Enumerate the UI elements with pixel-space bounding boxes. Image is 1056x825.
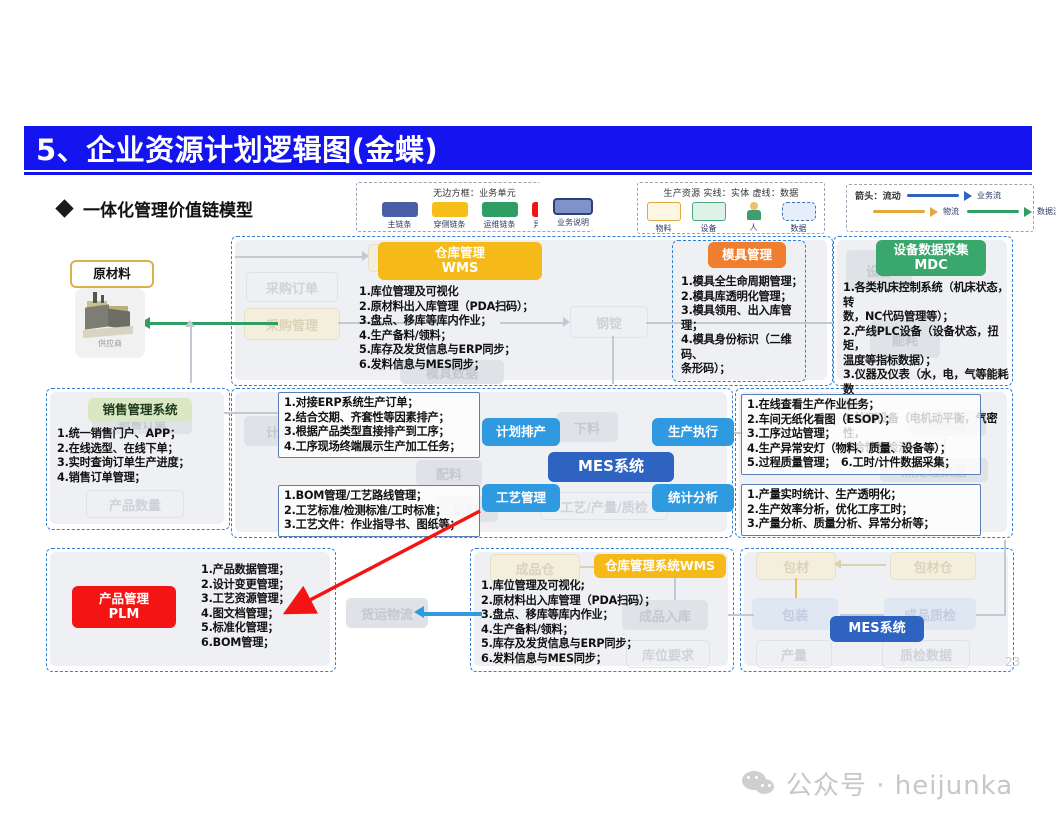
line-pack-left bbox=[728, 614, 754, 616]
plan-item-3: 3.根据产品类型直接排产到工序； bbox=[284, 425, 474, 440]
legend-item-data: 数据 bbox=[779, 202, 818, 234]
stat-item-2: 2.生产效率分析，优化工序工时； bbox=[747, 503, 975, 518]
mdc-item-3: 2.产线PLC设备（设备状态，扭矩， bbox=[843, 325, 1015, 354]
line-packwh-to-packmat bbox=[838, 564, 886, 566]
exec-item-5: 5.过程质量管理； 6.工时/计件数据采集； bbox=[747, 456, 975, 471]
page-number: 23 bbox=[1005, 655, 1020, 669]
wms-top-item-2: 2.原材料出入库管理（PDA扫码）； bbox=[359, 300, 609, 315]
plan-item-4: 4.工序现场终端展示生产加工任务； bbox=[284, 440, 474, 455]
stat-item-1: 1.产量实时统计、生产透明化； bbox=[747, 488, 975, 503]
watermark: 公众号 · heijunka bbox=[742, 765, 1013, 802]
module-plan-prod[interactable]: 计划排产 bbox=[482, 418, 560, 446]
module-wms-bottom[interactable]: 仓库管理系统WMS bbox=[594, 554, 726, 578]
subtitle-text: 一体化管理价值链模型 bbox=[83, 196, 253, 221]
ghost-output: 产量 bbox=[756, 640, 832, 668]
wms-top-item-1: 1.库位管理及可视化 bbox=[359, 285, 609, 300]
subtitle-group: 一体化管理价值链模型 bbox=[58, 196, 253, 221]
plan-item-1: 1.对接ERP系统生产订单； bbox=[284, 396, 474, 411]
ghost-product-qty: 产品数量 bbox=[86, 490, 184, 518]
mold-item-4: 4.模具身份标识（二维码、 bbox=[681, 333, 807, 362]
legend-arrow-business: 业务流 bbox=[907, 190, 1001, 201]
module-mold[interactable]: 模具管理 bbox=[708, 242, 786, 268]
title-underline bbox=[24, 172, 1032, 175]
module-prod-exec-label: 生产执行 bbox=[668, 425, 718, 440]
ghost-pack-material: 包材 bbox=[756, 552, 836, 580]
data-swatch-icon bbox=[782, 202, 816, 221]
line-inspect-right bbox=[976, 614, 1006, 616]
module-plan-prod-label: 计划排产 bbox=[496, 425, 546, 440]
sales-item-4: 4.销售订单管理； bbox=[57, 471, 229, 486]
legend-item-person: 人 bbox=[734, 202, 773, 233]
module-wms-bottom-label: 仓库管理系统WMS bbox=[605, 559, 715, 574]
legend-arrows: 箭头：流动 业务流 物流 数据流 bbox=[846, 184, 1034, 232]
arrow-top-d-head bbox=[185, 320, 195, 327]
module-plm-line1: 产品管理 bbox=[99, 592, 149, 607]
textbox-wms-bottom: 1.库位管理及可视化; 2.原材料出入库管理（PDA扫码）； 3.盘点、移库等库… bbox=[476, 576, 716, 669]
module-sales[interactable]: 销售管理系统 bbox=[88, 398, 192, 422]
legend-resources: 生产资源 实线：实体 虚线：数据 物料 设备 人 数据 bbox=[637, 182, 825, 234]
equipment-label: 设备 bbox=[701, 223, 717, 234]
wms-bottom-item-2: 2.原材料出入库管理（PDA扫码）； bbox=[481, 594, 711, 609]
slide-title-bar: 5、企业资源计划逻辑图(金蝶) bbox=[24, 126, 1032, 170]
legend-item-side-chain: 穿侧链条 bbox=[429, 202, 471, 230]
textbox-wms-top: 1.库位管理及可视化 2.原材料出入库管理（PDA扫码）； 3.盘点、移库等库内… bbox=[354, 282, 614, 375]
arrow-top-a-head bbox=[362, 251, 369, 261]
module-mes-center[interactable]: MES系统 bbox=[548, 452, 674, 482]
ghost-packaging: 包装 bbox=[752, 598, 838, 630]
plm-item-6: 6.BOM管理； bbox=[201, 636, 341, 651]
module-process-mgmt[interactable]: 工艺管理 bbox=[482, 484, 560, 512]
module-stat-analysis[interactable]: 统计分析 bbox=[652, 484, 734, 512]
wms-top-item-5: 5.库存及发货信息与ERP同步； bbox=[359, 343, 609, 358]
module-process-mgmt-label: 工艺管理 bbox=[496, 491, 546, 506]
side-chain-swatch bbox=[432, 202, 468, 217]
stat-item-3: 3.产量分析、质量分析、异常分析等； bbox=[747, 517, 975, 532]
textbox-sales: 1.统一销售门户、APP； 2.在线选型、在线下单； 3.实时查询订单生产进度；… bbox=[52, 424, 234, 488]
line-finished-wh bbox=[580, 566, 594, 568]
slide-canvas: 5、企业资源计划逻辑图(金蝶) 一体化管理价值链模型 无边方框：业务单元 主链条… bbox=[0, 0, 1056, 825]
module-mdc-line1: 设备数据采集 bbox=[893, 243, 968, 258]
legend-item-material: 物料 bbox=[644, 202, 683, 234]
module-wms-top[interactable]: 仓库管理 WMS bbox=[378, 242, 542, 280]
line-packmat-down bbox=[795, 578, 797, 598]
node-raw-material[interactable]: 原材料 bbox=[70, 260, 154, 288]
ghost-purchase-order: 采购订单 bbox=[246, 272, 338, 302]
module-mold-line1: 模具管理 bbox=[722, 248, 772, 263]
mold-item-5: 条形码）； bbox=[681, 362, 807, 377]
textbox-stat: 1.产量实时统计、生产透明化； 2.生产效率分析，优化工序工时； 3.产量分析、… bbox=[741, 484, 981, 536]
equipment-swatch-icon bbox=[692, 202, 726, 221]
module-stat-analysis-label: 统计分析 bbox=[668, 491, 718, 506]
business-flow-label: 业务流 bbox=[977, 190, 1001, 201]
ghost-blanking: 下料 bbox=[556, 412, 618, 442]
legend-item-equipment: 设备 bbox=[689, 202, 728, 234]
ghost-inspect-data: 质检数据 bbox=[882, 640, 970, 668]
business-note-swatch bbox=[553, 198, 593, 215]
module-mes-center-label: MES系统 bbox=[578, 458, 644, 476]
module-prod-exec[interactable]: 生产执行 bbox=[652, 418, 734, 446]
sales-item-3: 3.实时查询订单生产进度； bbox=[57, 456, 229, 471]
ops-chain-label: 运维链条 bbox=[484, 219, 516, 230]
module-wms-top-line1: 仓库管理 bbox=[435, 246, 485, 261]
ghost-batching: 配料 bbox=[416, 460, 482, 486]
wms-top-item-4: 4.生产备料/领料； bbox=[359, 329, 609, 344]
textbox-mold: 1.模具全生命周期管理； 2.模具库透明化管理； 3.模具领用、出入库管理； 4… bbox=[676, 272, 812, 380]
plm-item-5: 5.标准化管理； bbox=[201, 621, 341, 636]
side-chain-label: 穿侧链条 bbox=[434, 219, 466, 230]
module-plm-line2: PLM bbox=[109, 607, 140, 622]
legend-resources-caption: 生产资源 实线：实体 虚线：数据 bbox=[638, 183, 824, 199]
material-swatch-icon bbox=[647, 202, 681, 221]
legend-arrows-caption: 箭头：流动 bbox=[855, 189, 901, 202]
legend-item-business-note: 业务说明 bbox=[552, 198, 594, 228]
wms-top-item-6: 6.发料信息与MES同步； bbox=[359, 358, 609, 373]
line-sales-to-plan bbox=[224, 412, 280, 414]
mold-item-1: 1.模具全生命周期管理； bbox=[681, 275, 807, 290]
module-mes-bottom-label: MES系统 bbox=[848, 621, 905, 636]
wms-bottom-item-4: 4.生产备料/领料； bbox=[481, 623, 711, 638]
mold-item-3: 3.模具领用、出入库管理； bbox=[681, 304, 807, 333]
exec-item-4: 4.生产异常安灯（物料、质量、设备等）； bbox=[747, 442, 975, 457]
wechat-icon bbox=[742, 771, 776, 797]
module-mdc[interactable]: 设备数据采集 MDC bbox=[876, 240, 986, 276]
module-wms-top-line2: WMS bbox=[442, 261, 479, 276]
module-mdc-line2: MDC bbox=[914, 258, 947, 273]
arrow-packmat-head bbox=[834, 559, 841, 569]
exec-item-3: 3.工序过站管理； bbox=[747, 427, 975, 442]
ops-chain-swatch bbox=[482, 202, 518, 217]
data-label: 数据 bbox=[791, 223, 807, 234]
data-flow-label: 数据流 bbox=[1037, 206, 1056, 217]
line-right-riser bbox=[1004, 540, 1006, 614]
wms-bottom-item-1: 1.库位管理及可视化; bbox=[481, 579, 711, 594]
legend-item-ops-chain: 运维链条 bbox=[479, 202, 521, 230]
person-icon bbox=[746, 202, 762, 220]
plan-item-2: 2.结合交期、齐套性等因素排产； bbox=[284, 411, 474, 426]
person-label: 人 bbox=[750, 222, 758, 233]
sales-item-1: 1.统一销售门户、APP； bbox=[57, 427, 229, 442]
legend-item-main-chain: 主链条 bbox=[379, 202, 421, 230]
legend-arrow-logistics: 物流 bbox=[873, 206, 959, 217]
node-raw-material-label: 原材料 bbox=[93, 267, 131, 282]
wms-bottom-item-5: 5.库存及发货信息与ERP同步； bbox=[481, 637, 711, 652]
mdc-item-2: 数，NC代码管理等）； bbox=[843, 310, 1015, 325]
mdc-item-1: 1.各类机床控制系统（机床状态，转 bbox=[843, 281, 1015, 310]
watermark-text: 公众号 · heijunka bbox=[786, 765, 1013, 802]
legend-arrow-data: 数据流 bbox=[967, 206, 1056, 217]
logistics-flow-label: 物流 bbox=[943, 206, 959, 217]
page-title: 5、企业资源计划逻辑图(金蝶) bbox=[24, 127, 438, 169]
main-chain-label: 主链条 bbox=[388, 219, 412, 230]
module-mes-bottom[interactable]: MES系统 bbox=[830, 616, 924, 642]
arrow-supplier-line bbox=[150, 322, 278, 325]
textbox-exec: 1.在线查看生产作业任务； 2.车间无纸化看图（ESOP）； 3.工序过站管理；… bbox=[741, 394, 981, 475]
textbox-plan: 1.对接ERP系统生产订单； 2.结合交期、齐套性等因素排产； 3.根据产品类型… bbox=[278, 392, 480, 458]
diamond-bullet-icon bbox=[55, 199, 73, 217]
line-top-d bbox=[190, 325, 192, 383]
bom-item-1: 1.BOM管理/工艺路线管理； bbox=[284, 489, 474, 504]
sales-item-2: 2.在线选型、在线下单； bbox=[57, 442, 229, 457]
ghost-pack-warehouse: 包材仓 bbox=[890, 552, 976, 580]
wms-bottom-item-3: 3.盘点、移库等库内作业； bbox=[481, 608, 711, 623]
mold-item-2: 2.模具库透明化管理； bbox=[681, 290, 807, 305]
exec-item-1: 1.在线查看生产作业任务； bbox=[747, 398, 975, 413]
material-label: 物料 bbox=[656, 223, 672, 234]
supplier-label: 供应商 bbox=[75, 338, 145, 349]
business-note-label: 业务说明 bbox=[557, 217, 589, 228]
module-plm[interactable]: 产品管理 PLM bbox=[72, 586, 176, 628]
wms-top-item-3: 3.盘点、移库等库内作业； bbox=[359, 314, 609, 329]
legend-business-note: . 业务说明 bbox=[538, 182, 608, 230]
red-arrow-plm-to-bom bbox=[275, 503, 485, 623]
mdc-item-4: 温度等指标数据）； bbox=[843, 354, 1015, 369]
supplier-icon: 供应商 bbox=[75, 288, 145, 358]
line-top-a bbox=[235, 256, 365, 258]
module-sales-line1: 销售管理系统 bbox=[102, 403, 177, 418]
exec-item-2: 2.车间无纸化看图（ESOP）； bbox=[747, 413, 975, 428]
wms-bottom-item-6: 6.发料信息与MES同步； bbox=[481, 652, 711, 667]
main-chain-swatch bbox=[382, 202, 418, 217]
